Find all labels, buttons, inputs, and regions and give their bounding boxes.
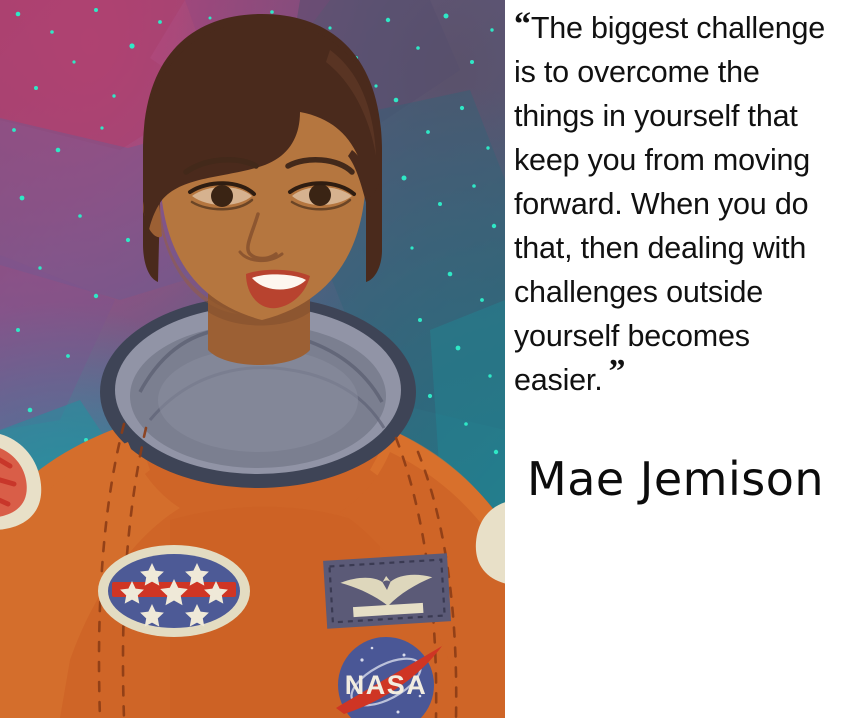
illustration-canvas: NASA xyxy=(0,0,505,718)
open-quote-mark: “ xyxy=(514,6,531,43)
quote-line-4: keep you from moving xyxy=(514,138,866,182)
quote-card: NASA “The biggest challenge is to overco… xyxy=(0,0,866,725)
oval-stars-patch xyxy=(98,545,250,637)
astronaut-wings-name-tag xyxy=(323,553,451,628)
quote-line-1: “The biggest challenge xyxy=(514,6,866,50)
astronaut-portrait-illustration: NASA xyxy=(0,0,505,718)
quote-line-3: things in yourself that xyxy=(514,94,866,138)
nasa-wordmark: NASA xyxy=(345,670,428,700)
quote-line-1-text: The biggest challenge xyxy=(531,11,825,45)
quote-line-5: forward. When you do xyxy=(514,182,866,226)
quote-line-9: easier.” xyxy=(514,358,866,402)
quote-line-8: yourself becomes xyxy=(514,314,866,358)
quote-line-7: challenges outside xyxy=(514,270,866,314)
quote-line-6: that, then dealing with xyxy=(514,226,866,270)
quote-text-block: “The biggest challenge is to overcome th… xyxy=(514,6,866,402)
attribution-name: Mae Jemison xyxy=(527,452,866,506)
quote-line-9-text: easier. xyxy=(514,363,602,397)
quote-line-2: is to overcome the xyxy=(514,50,866,94)
quote-panel: “The biggest challenge is to overcome th… xyxy=(505,0,866,725)
close-quote-mark: ” xyxy=(608,353,625,390)
